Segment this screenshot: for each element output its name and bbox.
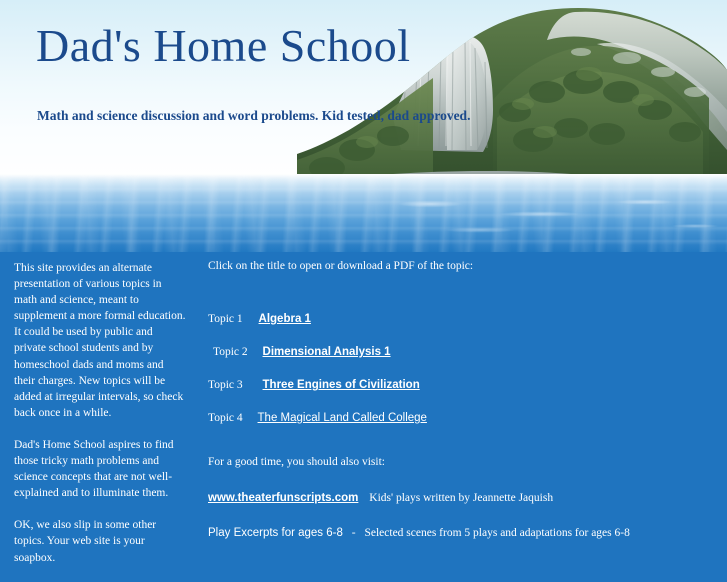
topic-2-label: Topic 2 xyxy=(213,346,248,358)
main-column: Click on the title to open or download a… xyxy=(208,260,720,561)
topic-row: Topic 4 The Magical Land Called College xyxy=(208,411,720,425)
also-visit-heading: For a good time, you should also visit: xyxy=(208,456,720,468)
topic-link-dimensional-analysis-1[interactable]: Dimensional Analysis 1 xyxy=(263,346,391,358)
page-content: This site provides an alternate presenta… xyxy=(0,252,727,545)
topic-row: Topic 1 Algebra 1 xyxy=(208,312,720,326)
link-theaterfunscripts[interactable]: www.theaterfunscripts.com xyxy=(208,492,358,504)
header-banner: Dad's Home School Math and science discu… xyxy=(0,0,727,252)
sidebar-paragraph-3: OK, we also slip in some other topics. Y… xyxy=(14,517,186,565)
sidebar-description-column: This site provides an alternate presenta… xyxy=(14,260,186,582)
topic-row: Topic 2 Dimensional Analysis 1 xyxy=(208,345,720,359)
site-title: Dad's Home School xyxy=(36,23,411,69)
topic-3-label: Topic 3 xyxy=(208,379,243,391)
link-play-excerpts-ages-6-8[interactable]: Play Excerpts for ages 6-8 xyxy=(208,527,343,539)
topic-1-label: Topic 1 xyxy=(208,313,243,325)
play-excerpts-row: Play Excerpts for ages 6-8 - Selected sc… xyxy=(208,526,720,540)
topic-link-three-engines-of-civilization[interactable]: Three Engines of Civilization xyxy=(263,379,420,391)
external-site-description: Kids' plays written by Jeannette Jaquish xyxy=(369,492,553,504)
site-tagline: Math and science discussion and word pro… xyxy=(37,108,470,124)
sidebar-paragraph-1: This site provides an alternate presenta… xyxy=(14,260,186,421)
topic-4-label: Topic 4 xyxy=(208,412,243,424)
excerpt-separator: - xyxy=(352,527,356,539)
play-excerpts-description: Selected scenes from 5 plays and adaptat… xyxy=(364,527,629,539)
topic-row: Topic 3 Three Engines of Civilization xyxy=(208,378,720,392)
external-site-row: www.theaterfunscripts.com Kids' plays wr… xyxy=(208,491,720,505)
topic-link-the-magical-land-called-college[interactable]: The Magical Land Called College xyxy=(258,412,427,424)
sea-sun-glint xyxy=(390,196,727,238)
topic-link-algebra-1[interactable]: Algebra 1 xyxy=(259,313,311,325)
pdf-instruction-text: Click on the title to open or download a… xyxy=(208,260,720,272)
sidebar-paragraph-2: Dad's Home School aspires to find those … xyxy=(14,437,186,501)
